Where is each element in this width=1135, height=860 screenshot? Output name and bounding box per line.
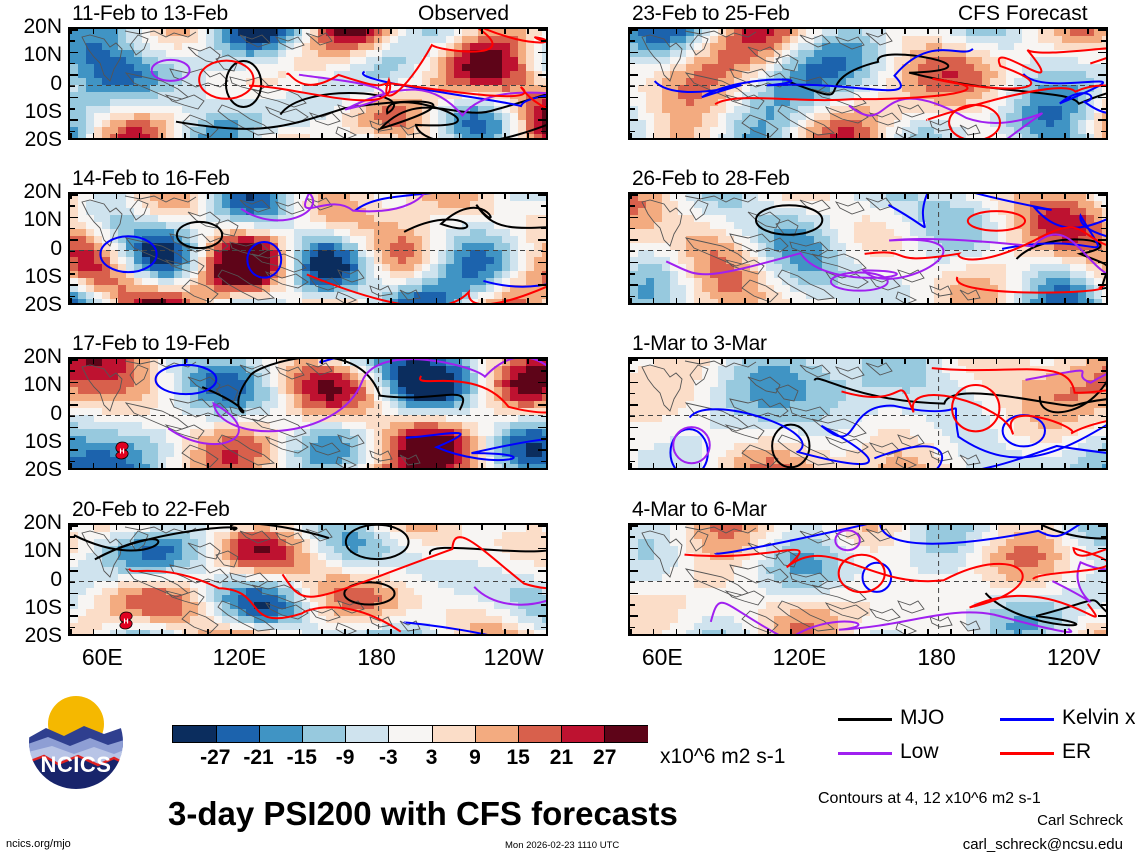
map-panel: H [68,523,548,636]
page-title: 3-day PSI200 with CFS forecasts [168,795,678,833]
colorbar-swatch [561,726,605,742]
column-header: CFS Forecast [958,3,1088,24]
y-axis-tick-label: 10N [0,374,62,395]
contour-interval-note: Contours at 4, 12 x10^6 m2 s-1 [818,790,1041,808]
x-axis-tick-label: 120W [478,646,550,669]
colorbar-swatch [388,726,432,742]
colorbar-swatch [173,726,216,742]
y-axis-tick-label: 10N [0,540,62,561]
y-axis-tick-label: 20S [0,625,62,646]
legend-label: Low [900,741,939,762]
panel-title: 17-Feb to 19-Feb [72,333,229,354]
svg-text:H: H [123,619,128,626]
legend-swatch-kelvin-x2 [1000,718,1054,721]
x-axis-tick-label: 120V [1038,646,1110,669]
y-axis-tick-label: 20S [0,294,62,315]
ncics-logo-text: NCICS [28,752,124,778]
x-axis-tick-label: 120E [763,646,835,669]
y-axis-tick-label: 20S [0,129,62,150]
y-axis-tick-label: 10S [0,266,62,287]
x-axis-tick-label: 60E [626,646,698,669]
column-header: Observed [418,3,509,24]
map-plot-area [70,29,548,140]
y-axis-tick-label: 20N [0,16,62,37]
legend-label: Kelvin x2 [1062,707,1135,728]
map-plot-area: H [70,525,548,636]
legend-label: ER [1062,741,1091,762]
x-axis-tick-label: 60E [66,646,138,669]
psi-anomaly-shading [630,29,1108,140]
colorbar-swatch [345,726,389,742]
tropical-cyclone-icon: H [116,442,128,459]
map-panel [628,523,1108,636]
generated-timestamp: Mon 2026-02-23 1110 UTC [505,840,619,851]
y-axis-tick-label: 20S [0,459,62,480]
author-email: carl_schreck@ncsu.edu [963,836,1123,853]
y-axis-tick-label: 10N [0,44,62,65]
map-panel: H [68,357,548,470]
legend-swatch-low [838,752,892,755]
legend-swatch-mjo [838,718,892,721]
y-axis-tick-label: 0 [0,73,62,94]
map-panel [68,27,548,140]
colorbar-units-label: x10^6 m2 s-1 [660,745,785,769]
y-axis-tick-label: 20N [0,181,62,202]
colorbar-swatch [432,726,476,742]
y-axis-tick-label: 20N [0,346,62,367]
y-axis-tick-label: 20N [0,512,62,533]
map-plot-area [630,194,1108,305]
colorbar-swatch [259,726,303,742]
colorbar-swatch [216,726,260,742]
map-plot-area: H [70,359,548,470]
svg-text:H: H [119,449,124,456]
x-axis-tick-label: 120E [203,646,275,669]
map-panel [628,27,1108,140]
author-credit: Carl Schreck [1037,812,1123,829]
x-axis-tick-label: 180 [341,646,413,669]
legend-label: MJO [900,707,944,728]
y-axis-tick-label: 0 [0,569,62,590]
y-axis-tick-label: 0 [0,238,62,259]
map-panel [628,357,1108,470]
y-axis-tick-label: 0 [0,403,62,424]
panel-title: 20-Feb to 22-Feb [72,499,229,520]
y-axis-tick-label: 10S [0,101,62,122]
site-link[interactable]: ncics.org/mjo [6,838,71,850]
panel-title: 14-Feb to 16-Feb [72,168,229,189]
legend-swatch-er [1000,752,1054,755]
panel-title: 23-Feb to 25-Feb [632,3,789,24]
map-panel [68,192,548,305]
panel-title: 1-Mar to 3-Mar [632,333,767,354]
y-axis-tick-label: 10N [0,209,62,230]
panel-title: 4-Mar to 6-Mar [632,499,767,520]
colorbar-swatch [475,726,519,742]
tropical-cyclone-icon: H [120,612,132,629]
colorbar-swatch [604,726,648,742]
map-plot-area [630,29,1108,140]
y-axis-tick-label: 10S [0,431,62,452]
colorbar-swatch [302,726,346,742]
panel-title: 26-Feb to 28-Feb [632,168,789,189]
panel-title: 11-Feb to 13-Feb [72,3,228,24]
map-plot-area [630,525,1108,636]
ncics-logo: NCICS [28,694,124,790]
colorbar-swatch [518,726,562,742]
colorbar-tick-label: 27 [579,747,631,768]
map-plot-area [70,194,548,305]
map-plot-area [630,359,1108,470]
x-axis-tick-label: 180 [901,646,973,669]
colorbar [172,725,648,743]
y-axis-tick-label: 10S [0,597,62,618]
map-panel [628,192,1108,305]
